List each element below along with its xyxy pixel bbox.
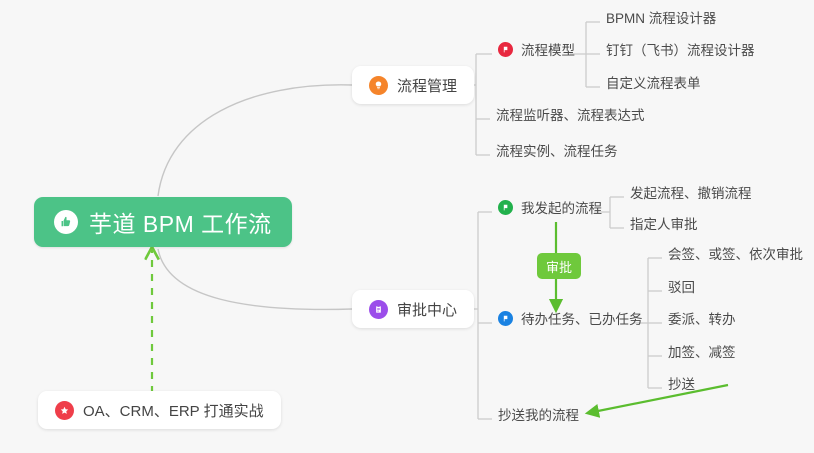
node-reject[interactable]: 驳回 — [662, 275, 701, 299]
thumbs-up-icon — [54, 210, 78, 234]
arrow-cc-to-cc-to-me — [588, 385, 728, 413]
node-bpmn-designer-label: BPMN 流程设计器 — [606, 12, 716, 26]
node-process-model[interactable]: 流程模型 — [492, 38, 581, 62]
approval-tag-label: 审批 — [546, 257, 572, 276]
lightbulb-icon — [369, 76, 388, 95]
mindmap-canvas: 芋道 BPM 工作流 流程管理 流程模型 BPMN 流程设计器 钉钉（飞书）流程… — [0, 0, 814, 453]
node-my-initiated-process-label: 我发起的流程 — [521, 202, 602, 216]
node-process-instance-task-label: 流程实例、流程任务 — [496, 145, 618, 159]
root-node[interactable]: 芋道 BPM 工作流 — [34, 197, 292, 247]
node-approval-center[interactable]: 审批中心 — [352, 290, 474, 328]
node-process-management-label: 流程管理 — [397, 75, 457, 96]
node-delegate-transfer[interactable]: 委派、转办 — [662, 307, 742, 331]
node-start-cancel-process-label: 发起流程、撤销流程 — [630, 187, 752, 201]
node-reject-label: 驳回 — [668, 281, 695, 295]
star-icon — [55, 401, 74, 420]
node-start-cancel-process[interactable]: 发起流程、撤销流程 — [624, 181, 758, 205]
flag-icon — [498, 311, 513, 326]
node-process-management[interactable]: 流程管理 — [352, 66, 474, 104]
node-my-initiated-process[interactable]: 我发起的流程 — [492, 196, 608, 220]
node-todo-done-task[interactable]: 待办任务、已办任务 — [492, 307, 649, 331]
node-process-model-label: 流程模型 — [521, 44, 575, 58]
node-cc-to-me-process-label: 抄送我的流程 — [498, 409, 579, 423]
node-custom-process-form-label: 自定义流程表单 — [606, 77, 701, 91]
flag-icon — [498, 42, 513, 57]
approval-tag[interactable]: 审批 — [537, 253, 581, 279]
node-approval-center-label: 审批中心 — [397, 299, 457, 320]
node-cc-label: 抄送 — [668, 378, 695, 392]
node-integration-practice[interactable]: OA、CRM、ERP 打通实战 — [38, 391, 281, 429]
node-delegate-transfer-label: 委派、转办 — [668, 313, 736, 327]
connector-root-to-approval-center — [158, 249, 352, 309]
node-designated-approver-label: 指定人审批 — [630, 218, 698, 232]
node-designated-approver[interactable]: 指定人审批 — [624, 212, 704, 236]
node-custom-process-form[interactable]: 自定义流程表单 — [600, 71, 707, 95]
node-countersign-or-sequential-label: 会签、或签、依次审批 — [668, 248, 803, 262]
node-process-listener-expression-label: 流程监听器、流程表达式 — [496, 109, 645, 123]
node-bpmn-designer[interactable]: BPMN 流程设计器 — [600, 6, 722, 30]
node-process-instance-task[interactable]: 流程实例、流程任务 — [490, 139, 624, 163]
node-cc-to-me-process[interactable]: 抄送我的流程 — [492, 403, 585, 427]
root-label: 芋道 BPM 工作流 — [89, 205, 272, 239]
node-add-remove-sign-label: 加签、减签 — [668, 346, 736, 360]
node-add-remove-sign[interactable]: 加签、减签 — [662, 340, 742, 364]
node-dingtalk-feishu-designer[interactable]: 钉钉（飞书）流程设计器 — [600, 38, 761, 62]
connector-root-to-process-management — [158, 85, 352, 196]
node-cc[interactable]: 抄送 — [662, 372, 701, 396]
node-process-listener-expression[interactable]: 流程监听器、流程表达式 — [490, 103, 651, 127]
node-todo-done-task-label: 待办任务、已办任务 — [521, 313, 643, 327]
node-countersign-or-sequential[interactable]: 会签、或签、依次审批 — [662, 242, 809, 266]
node-integration-practice-label: OA、CRM、ERP 打通实战 — [83, 400, 264, 421]
clipboard-icon — [369, 300, 388, 319]
flag-icon — [498, 200, 513, 215]
node-dingtalk-feishu-designer-label: 钉钉（飞书）流程设计器 — [606, 44, 755, 58]
